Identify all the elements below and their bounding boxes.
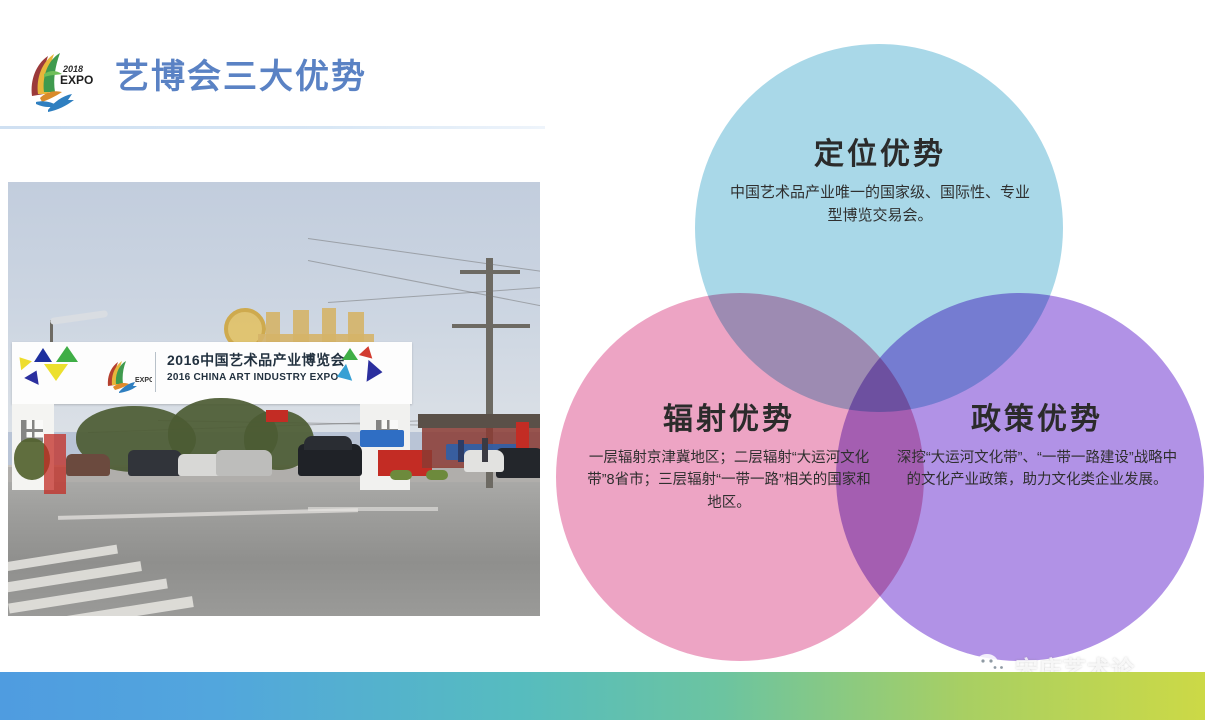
slide-canvas: 2018 EXPO 艺博会三大优势: [0, 0, 1205, 720]
photo-vertical-banner: [44, 434, 66, 494]
photo-car: [128, 450, 182, 476]
photo-blue-road-sign: [360, 430, 404, 447]
venn-body-radiation: 一层辐射京津冀地区；二层辐射“大运河文化带”8省市；三层辐射“一带一路”相关的国…: [584, 447, 874, 514]
photo-banner-title-cn: 2016中国艺术品产业博览会: [167, 350, 345, 370]
venn-title-positioning: 定位优势: [730, 140, 1030, 170]
photo-planter: [426, 470, 448, 480]
photo-banner-decor-triangle: [44, 364, 68, 381]
venn-title-policy: 政策优势: [892, 405, 1182, 435]
photo-banner-decor-triangle: [359, 344, 375, 358]
photo-pole-crossarm: [460, 270, 520, 274]
photo-pole-crossarm: [452, 324, 530, 328]
photo-planter: [390, 470, 412, 480]
photo-banner-decor-triangle: [56, 346, 78, 362]
venn-label-positioning: 定位优势 中国艺术品产业唯一的国家级、国际性、专业型博览交易会。: [730, 140, 1030, 227]
venn-body-policy: 深挖“大运河文化带”、“一带一路建设”战略中的文化产业政策，助力文化类企业发展。: [892, 447, 1182, 492]
photo-banner: EXPO 2016中国艺术品产业博览会 2016 CHINA ART INDUS…: [12, 342, 412, 404]
expo-logo-icon: 2018 EXPO: [14, 44, 100, 114]
svg-text:EXPO: EXPO: [60, 73, 93, 87]
expo-gateway-photo: EXPO 2016中国艺术品产业博览会 2016 CHINA ART INDUS…: [8, 182, 540, 616]
photo-car: [304, 436, 352, 450]
photo-banner-decor-triangle: [24, 367, 44, 385]
slide-header: 2018 EXPO 艺博会三大优势: [0, 0, 545, 128]
venn-body-positioning: 中国艺术品产业唯一的国家级、国际性、专业型博览交易会。: [730, 182, 1030, 227]
photo-banner-decor-triangle: [34, 348, 52, 362]
photo-car: [66, 454, 110, 476]
photo-banner-divider: [155, 352, 156, 392]
header-divider: [0, 126, 545, 129]
page-title: 艺博会三大优势: [115, 60, 367, 94]
photo-banner-logo-icon: EXPO: [100, 356, 152, 394]
bottom-gradient-bar: [0, 672, 1205, 720]
photo-car: [216, 450, 272, 476]
photo-person: [458, 440, 464, 462]
venn-title-radiation: 辐射优势: [584, 405, 874, 435]
venn-diagram: 定位优势 中国艺术品产业唯一的国家级、国际性、专业型博览交易会。 辐射优势 一层…: [540, 18, 1205, 683]
photo-banner-decor-triangle: [342, 348, 358, 360]
venn-label-radiation: 辐射优势 一层辐射京津冀地区；二层辐射“大运河文化带”8省市；三层辐射“一带一路…: [584, 405, 874, 514]
photo-person: [482, 438, 488, 462]
photo-lane-line: [308, 507, 438, 511]
photo-red-sign: [266, 410, 288, 422]
venn-label-policy: 政策优势 深挖“大运河文化带”、“一带一路建设”战略中的文化产业政策，助力文化类…: [892, 405, 1182, 492]
photo-banner-title-en: 2016 CHINA ART INDUSTRY EXPO: [167, 372, 339, 383]
photo-banner-decor-triangle: [367, 360, 384, 383]
svg-text:EXPO: EXPO: [135, 377, 152, 384]
